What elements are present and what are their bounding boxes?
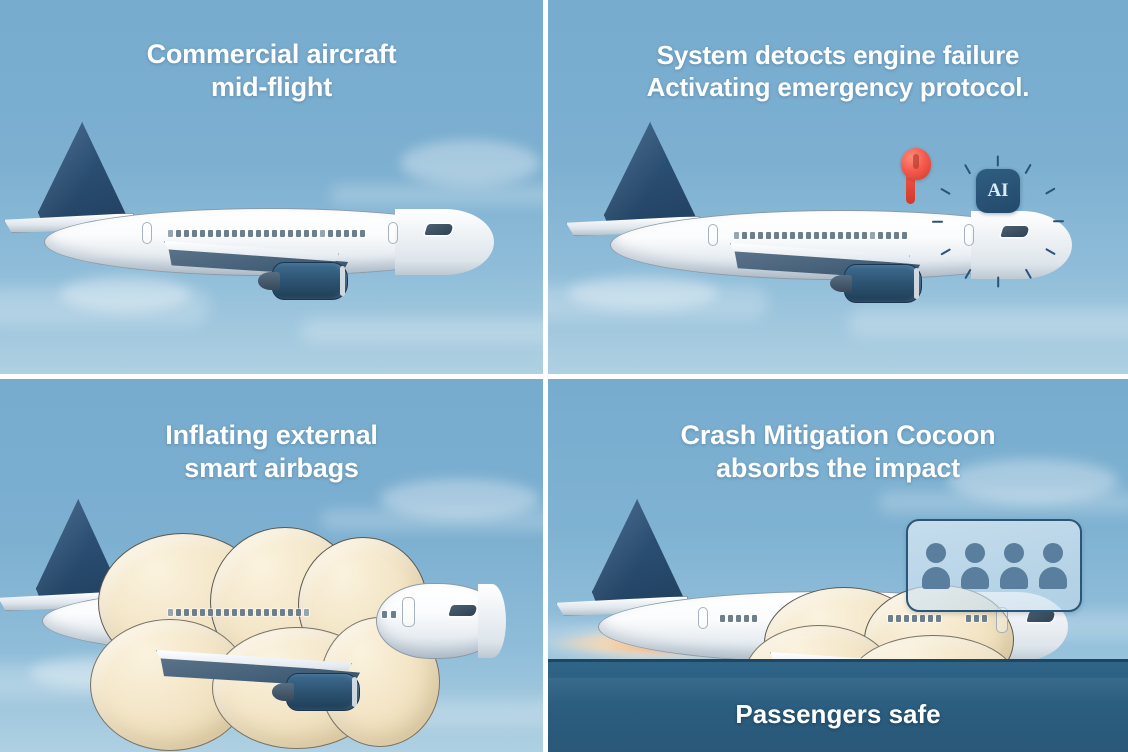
panel-1: Commercial aircraft mid-flight bbox=[0, 0, 543, 374]
cabin-window-row bbox=[720, 615, 757, 622]
panel-3-caption: Inflating external smart airbags bbox=[0, 419, 543, 485]
cabin-window-row bbox=[888, 615, 941, 622]
water-surface: Passengers safe bbox=[548, 659, 1128, 752]
cockpit-window bbox=[448, 605, 477, 616]
cabin-window-row bbox=[734, 232, 907, 239]
cockpit-window bbox=[1026, 611, 1055, 622]
storyboard-grid: Commercial aircraft mid-flight bbox=[0, 0, 1128, 752]
passenger-status-panel bbox=[906, 519, 1082, 612]
ai-module-indicator: AI bbox=[952, 145, 1044, 237]
cabin-door bbox=[708, 224, 718, 246]
panel-2-caption: System detocts engine failure Activating… bbox=[548, 40, 1128, 103]
panel-3: Inflating external smart airbags bbox=[0, 379, 543, 752]
caption-line: smart airbags bbox=[26, 452, 517, 485]
panel-4-caption: Crash Mitigation Cocoon absorbs the impa… bbox=[548, 419, 1128, 485]
panel-4: Crash Mitigation Cocoon absorbs the impa… bbox=[548, 379, 1128, 752]
nose-section bbox=[376, 583, 506, 659]
engine-nacelle bbox=[272, 262, 348, 300]
passenger-icon bbox=[961, 543, 989, 589]
caption-line: Activating emergency protocol. bbox=[574, 72, 1102, 104]
caption-line: Inflating external bbox=[26, 419, 517, 452]
cabin-door bbox=[402, 597, 415, 627]
nose-cone bbox=[478, 584, 506, 658]
caption-line: mid-flight bbox=[26, 71, 517, 104]
caption-line: absorbs the impact bbox=[574, 452, 1102, 485]
passenger-icon bbox=[922, 543, 950, 589]
caption-line: Commercial aircraft bbox=[26, 38, 517, 71]
passenger-icon bbox=[1000, 543, 1028, 589]
cockpit-window bbox=[424, 224, 453, 235]
caption-line: Crash Mitigation Cocoon bbox=[574, 419, 1102, 452]
cabin-door bbox=[698, 607, 708, 629]
cabin-door bbox=[142, 222, 152, 244]
cloud-icon bbox=[848, 308, 1128, 338]
cabin-window-row bbox=[168, 609, 309, 616]
nose-cone bbox=[395, 209, 494, 275]
passenger-icon bbox=[1039, 543, 1067, 589]
tail-fin bbox=[38, 122, 130, 227]
engine-nacelle bbox=[286, 673, 360, 711]
cabin-window-row bbox=[168, 230, 365, 237]
cabin-door bbox=[388, 222, 398, 244]
cabin-window bbox=[391, 611, 396, 618]
panel-2: System detocts engine failure Activating… bbox=[548, 0, 1128, 374]
caption-line: System detocts engine failure bbox=[574, 40, 1102, 72]
alert-beacon-icon bbox=[896, 148, 936, 212]
cabin-window-row bbox=[966, 615, 987, 622]
airplane-illustration bbox=[20, 120, 520, 300]
cloud-icon bbox=[300, 318, 543, 344]
ai-badge: AI bbox=[976, 169, 1020, 213]
engine-nacelle bbox=[844, 264, 922, 303]
passengers-safe-caption: Passengers safe bbox=[548, 699, 1128, 730]
airplane-illustration bbox=[10, 497, 530, 697]
tail-fin bbox=[604, 122, 700, 230]
panel-1-caption: Commercial aircraft mid-flight bbox=[0, 38, 543, 104]
tail-fin bbox=[592, 499, 686, 607]
cabin-window bbox=[382, 611, 387, 618]
